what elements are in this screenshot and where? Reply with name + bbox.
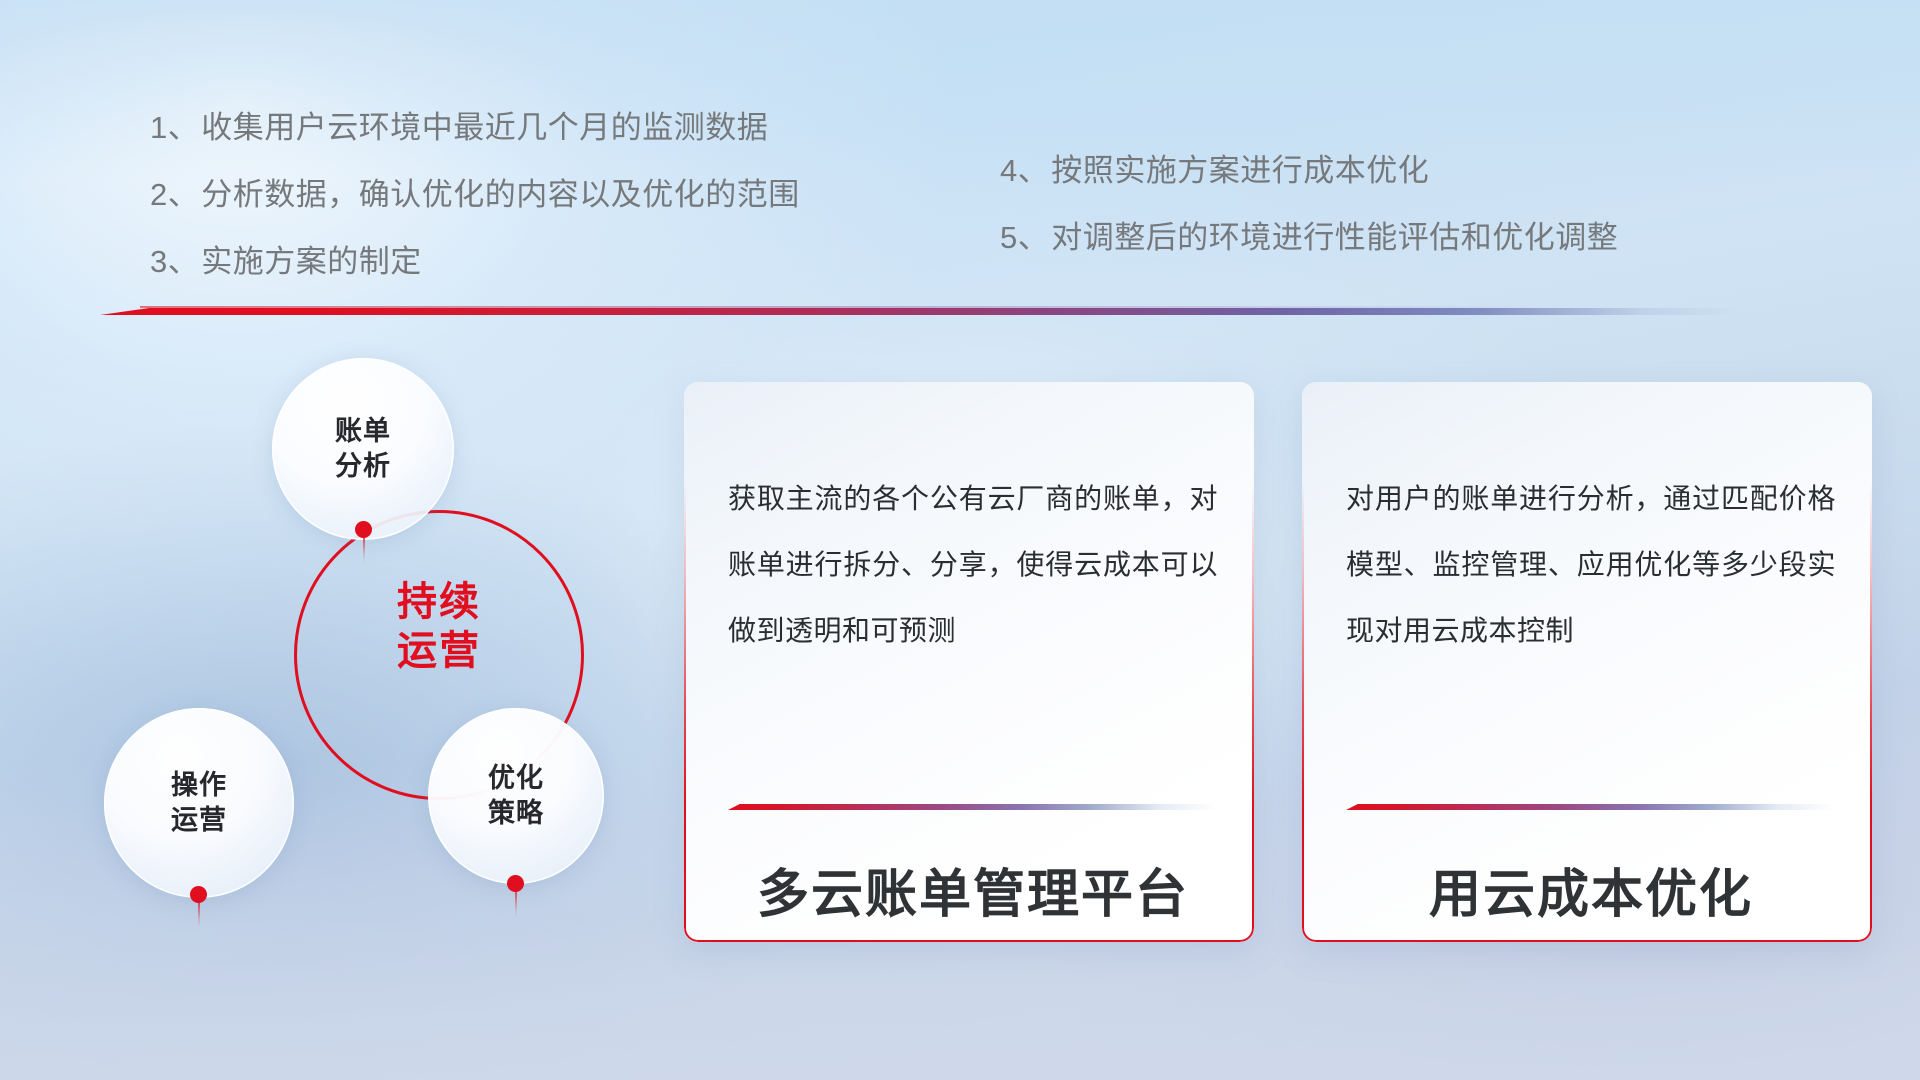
card-body-text: 对用户的账单进行分析，通过匹配价格模型、监控管理、应用优化等多少段实现对用云成本… — [1346, 466, 1836, 663]
steps-left-column: 1、收集用户云环境中最近几个月的监测数据 2、分析数据，确认优化的内容以及优化的… — [150, 112, 890, 313]
card-divider — [1346, 802, 1836, 812]
section-divider-hairline — [140, 306, 1740, 308]
diagram-node-optimization-strategy[interactable]: 优化 策略 — [428, 708, 604, 884]
diagram-node-label-line1: 账单 — [335, 414, 391, 449]
diagram-node-label-line1: 操作 — [171, 768, 227, 803]
card-divider-bar — [728, 804, 1218, 810]
diagram-node-operations[interactable]: 操作 运营 — [104, 708, 294, 898]
diagram-node-label: 操作 运营 — [171, 768, 227, 838]
diagram-marker-dot — [355, 521, 372, 538]
diagram-node-label-line2: 策略 — [488, 796, 544, 831]
diagram-node-bill-analysis[interactable]: 账单 分析 — [272, 358, 454, 540]
step-text: 按照实施方案进行成本优化 — [1051, 153, 1429, 188]
step-number: 3、 — [150, 244, 199, 279]
diagram-node-label: 账单 分析 — [335, 414, 391, 484]
continuous-operations-diagram: 持续 运营 账单 分析 操作 运营 优化 策略 — [96, 350, 656, 950]
step-text: 实施方案的制定 — [201, 244, 422, 279]
step-item: 4、按照实施方案进行成本优化 — [1000, 155, 1800, 186]
step-item: 3、实施方案的制定 — [150, 246, 890, 277]
diagram-center-label: 持续 运营 — [294, 578, 584, 676]
card-divider-bar — [1346, 804, 1836, 810]
step-number: 2、 — [150, 177, 199, 212]
section-divider — [100, 300, 1740, 322]
diagram-node-label-line1: 优化 — [488, 761, 544, 796]
step-item: 5、对调整后的环境进行性能评估和优化调整 — [1000, 222, 1800, 253]
step-text: 对调整后的环境进行性能评估和优化调整 — [1051, 220, 1618, 255]
step-item: 2、分析数据，确认优化的内容以及优化的范围 — [150, 179, 890, 210]
step-item: 1、收集用户云环境中最近几个月的监测数据 — [150, 112, 890, 143]
feature-card-multi-cloud-billing[interactable]: 获取主流的各个公有云厂商的账单，对账单进行拆分、分享，使得云成本可以做到透明和可… — [684, 382, 1254, 942]
step-text: 分析数据，确认优化的内容以及优化的范围 — [201, 177, 800, 212]
feature-card-cloud-cost-optimization[interactable]: 对用户的账单进行分析，通过匹配价格模型、监控管理、应用优化等多少段实现对用云成本… — [1302, 382, 1872, 942]
diagram-center-label-line2: 运营 — [294, 627, 584, 676]
card-title: 用云成本优化 — [1346, 852, 1836, 927]
section-divider-bar — [100, 308, 1740, 315]
step-number: 5、 — [1000, 220, 1049, 255]
steps-right-column: 4、按照实施方案进行成本优化 5、对调整后的环境进行性能评估和优化调整 — [1000, 155, 1800, 289]
step-number: 4、 — [1000, 153, 1049, 188]
diagram-marker-dot — [190, 886, 207, 903]
step-text: 收集用户云环境中最近几个月的监测数据 — [201, 110, 768, 145]
diagram-node-label-line2: 分析 — [335, 449, 391, 484]
card-divider — [728, 802, 1218, 812]
step-number: 1、 — [150, 110, 199, 145]
diagram-center-label-line1: 持续 — [294, 578, 584, 627]
card-body-text: 获取主流的各个公有云厂商的账单，对账单进行拆分、分享，使得云成本可以做到透明和可… — [728, 466, 1218, 663]
diagram-marker-dot — [507, 875, 524, 892]
diagram-node-label-line2: 运营 — [171, 803, 227, 838]
card-title: 多云账单管理平台 — [728, 852, 1218, 927]
diagram-node-label: 优化 策略 — [488, 761, 544, 831]
